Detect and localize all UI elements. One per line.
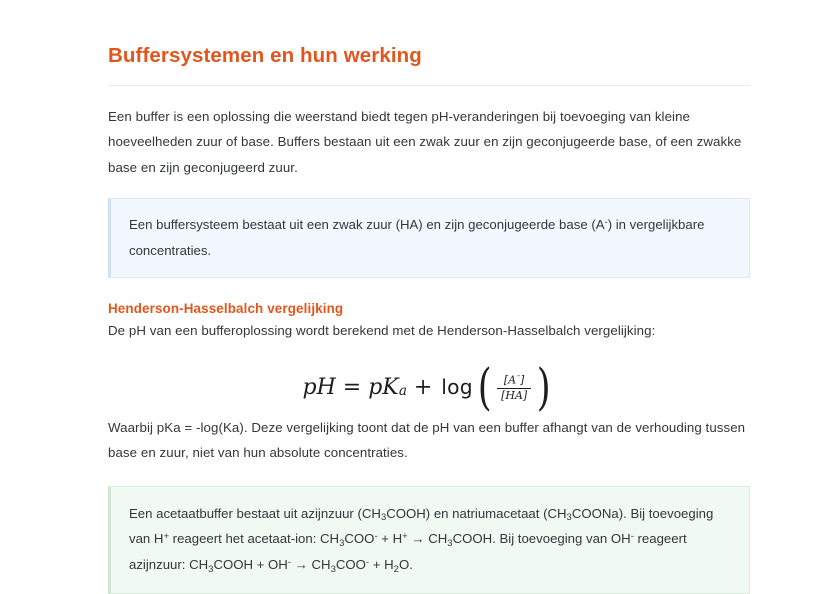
- equation-intro-paragraph: De pH van een bufferoplossing wordt bere…: [108, 318, 750, 344]
- equation-rhs-k: K: [382, 375, 398, 400]
- title-divider: [108, 85, 750, 86]
- equation-denominator: [HA]: [497, 388, 531, 402]
- equation-plus: +: [414, 375, 432, 400]
- intro-paragraph: Een buffer is een oplossing die weerstan…: [108, 104, 750, 181]
- equation-equals: =: [343, 375, 361, 400]
- definition-callout: Een buffersysteem bestaat uit een zwak z…: [108, 198, 750, 277]
- numerator-charge: -: [516, 371, 520, 381]
- equation-lhs-p: p: [302, 375, 316, 400]
- explanation-paragraph: Waarbij pKa = -log(Ka). Deze vergelijkin…: [108, 415, 750, 466]
- numerator-bracket-close: ]: [520, 373, 524, 386]
- henderson-hasselbalch-equation: pH = pKa + log ( [A-] [HA] ): [302, 372, 555, 403]
- equation-log-operator: log: [441, 375, 472, 399]
- equation-rhs-k-subscript: a: [399, 383, 407, 399]
- document-page: Buffersystemen en hun werking Een buffer…: [0, 0, 828, 586]
- equation-fraction: [A-] [HA]: [497, 373, 531, 402]
- equation-rhs-p: p: [368, 375, 382, 400]
- page-title: Buffersystemen en hun werking: [108, 44, 750, 85]
- example-callout-text: Een acetaatbuffer bestaat uit azijnzuur …: [129, 506, 713, 572]
- equation-block: pH = pKa + log ( [A-] [HA] ): [108, 366, 750, 411]
- section-heading-henderson-hasselbalch: Henderson-Hasselbalch vergelijking: [108, 300, 750, 319]
- example-callout: Een acetaatbuffer bestaat uit azijnzuur …: [108, 486, 750, 594]
- definition-text-before: Een buffersysteem bestaat uit een zwak z…: [129, 217, 605, 232]
- equation-paren-open: (: [477, 372, 491, 403]
- equation-numerator: [A-]: [500, 373, 528, 388]
- equation-lhs-h: H: [317, 375, 336, 400]
- numerator-bracket-a: [A: [504, 373, 516, 386]
- anion-charge-superscript: -: [605, 217, 608, 228]
- equation-paren-close: ): [537, 372, 551, 403]
